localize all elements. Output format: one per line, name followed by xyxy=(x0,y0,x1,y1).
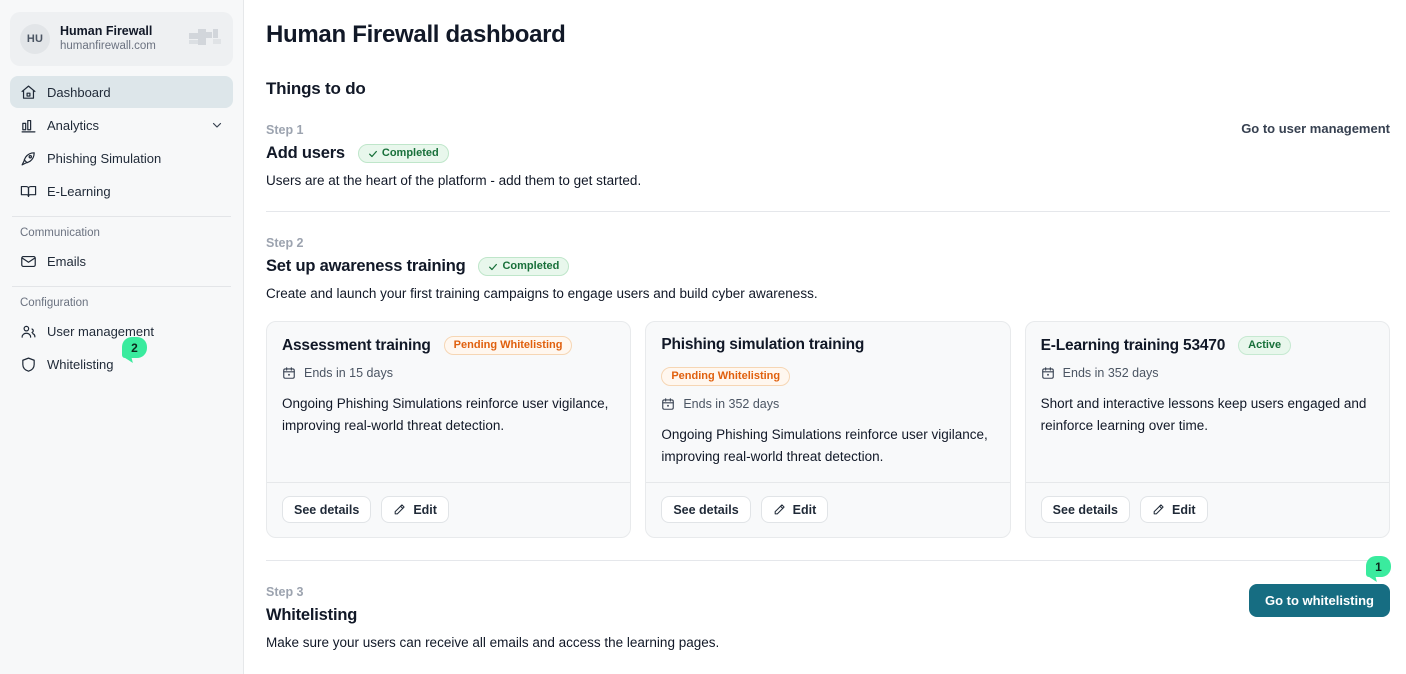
sidebar-item-emails[interactable]: Emails xyxy=(10,245,233,277)
org-profile-text: Human Firewall humanfirewall.com xyxy=(60,24,189,54)
card-title: Phishing simulation training xyxy=(661,336,864,354)
training-card-phishing-simulation: Phishing simulation training Pending Whi… xyxy=(645,321,1010,538)
step-name: Add users xyxy=(266,144,345,163)
org-name: Human Firewall xyxy=(60,24,189,39)
card-footer: See details Edit xyxy=(1026,482,1389,537)
sidebar-item-label: E-Learning xyxy=(47,184,223,199)
edit-button-label: Edit xyxy=(413,503,437,517)
status-badge-pending-whitelisting: Pending Whitelisting xyxy=(661,367,790,386)
sidebar-item-dashboard[interactable]: Dashboard xyxy=(10,76,233,108)
section-title-things-to-do: Things to do xyxy=(266,79,1390,99)
whitelisting-cta-badge: 1 xyxy=(1366,556,1391,577)
step-3-whitelisting: Step 3 Whitelisting Make sure your users… xyxy=(266,561,1390,652)
sidebar-item-label: Emails xyxy=(47,254,223,269)
card-meta-label: Ends in 352 days xyxy=(683,397,779,411)
card-header: Phishing simulation training xyxy=(661,336,994,354)
avatar: HU xyxy=(20,24,50,54)
step-label: Step 2 xyxy=(266,236,1390,250)
org-logo-placeholder-icon xyxy=(189,29,223,49)
sidebar-nav-primary: Dashboard Analytics Phishing Simulation xyxy=(10,76,233,207)
card-description: Ongoing Phishing Simulations reinforce u… xyxy=(282,393,615,437)
card-description: Ongoing Phishing Simulations reinforce u… xyxy=(661,424,994,468)
main-content: Human Firewall dashboard Things to do St… xyxy=(244,0,1406,674)
step-2-awareness-training: Step 2 Set up awareness training Complet… xyxy=(266,236,1390,561)
org-profile-card[interactable]: HU Human Firewall humanfirewall.com xyxy=(10,12,233,66)
card-meta-end-date: Ends in 352 days xyxy=(1041,366,1374,380)
calendar-icon xyxy=(1041,366,1055,380)
page-title: Human Firewall dashboard xyxy=(266,21,1390,49)
step-description: Users are at the heart of the platform -… xyxy=(266,171,641,190)
card-header: E-Learning training 53470 Active xyxy=(1041,336,1374,355)
step-1-add-users: Step 1 Add users Completed Users are at … xyxy=(266,99,1390,212)
pencil-icon xyxy=(393,503,406,516)
card-meta-label: Ends in 352 days xyxy=(1063,366,1159,380)
org-domain: humanfirewall.com xyxy=(60,39,189,54)
status-badge-completed: Completed xyxy=(478,257,569,276)
sidebar-item-label: Whitelisting xyxy=(47,357,223,372)
step-description: Make sure your users can receive all ema… xyxy=(266,633,719,652)
check-icon xyxy=(488,262,498,272)
check-icon xyxy=(368,149,378,159)
step-name: Set up awareness training xyxy=(266,257,465,276)
card-meta-end-date: Ends in 352 days xyxy=(661,397,994,411)
shield-icon xyxy=(20,356,37,373)
pencil-icon xyxy=(773,503,786,516)
sidebar-item-analytics[interactable]: Analytics xyxy=(10,109,233,141)
status-badge-active: Active xyxy=(1238,336,1291,355)
see-details-button[interactable]: See details xyxy=(1041,496,1130,523)
whitelisting-cta-wrapper: 1 Go to whitelisting xyxy=(1249,584,1390,617)
go-to-user-management-link[interactable]: Go to user management xyxy=(1241,121,1390,136)
sidebar-item-user-management[interactable]: User management xyxy=(10,315,233,347)
edit-button-label: Edit xyxy=(793,503,817,517)
status-badge-completed: Completed xyxy=(358,144,449,163)
sidebar-group-configuration-title: Configuration xyxy=(10,287,233,315)
step-name: Whitelisting xyxy=(266,606,357,625)
card-header: Assessment training Pending Whitelisting xyxy=(282,336,615,355)
edit-button[interactable]: Edit xyxy=(381,496,449,523)
card-meta-end-date: Ends in 15 days xyxy=(282,366,615,380)
edit-button[interactable]: Edit xyxy=(761,496,829,523)
card-body: Phishing simulation training Pending Whi… xyxy=(646,322,1009,482)
step-description: Create and launch your first training ca… xyxy=(266,284,1390,303)
go-to-whitelisting-button[interactable]: Go to whitelisting xyxy=(1249,584,1390,617)
sidebar-item-label: Phishing Simulation xyxy=(47,151,223,166)
users-icon xyxy=(20,323,37,340)
sidebar-nav-communication: Emails xyxy=(10,245,233,277)
sidebar: HU Human Firewall humanfirewall.com Dash… xyxy=(0,0,244,674)
status-badge-label: Completed xyxy=(382,148,439,159)
calendar-icon xyxy=(661,397,675,411)
see-details-button[interactable]: See details xyxy=(282,496,371,523)
book-open-icon xyxy=(20,183,37,200)
home-icon xyxy=(20,84,37,101)
whitelisting-notification-badge: 2 xyxy=(122,337,147,358)
training-card-assessment: Assessment training Pending Whitelisting… xyxy=(266,321,631,538)
sidebar-nav-configuration: User management Whitelisting 2 xyxy=(10,315,233,380)
sidebar-item-e-learning[interactable]: E-Learning xyxy=(10,175,233,207)
mail-icon xyxy=(20,253,37,270)
chevron-down-icon[interactable] xyxy=(211,119,223,131)
card-footer: See details Edit xyxy=(646,482,1009,537)
card-description: Short and interactive lessons keep users… xyxy=(1041,393,1374,437)
card-title: E-Learning training 53470 xyxy=(1041,337,1226,355)
card-body: Assessment training Pending Whitelisting… xyxy=(267,322,630,482)
step-label: Step 1 xyxy=(266,123,641,137)
status-badge-label: Completed xyxy=(502,261,559,272)
see-details-button[interactable]: See details xyxy=(661,496,750,523)
rocket-icon xyxy=(20,150,37,167)
edit-button[interactable]: Edit xyxy=(1140,496,1208,523)
sidebar-item-label: Dashboard xyxy=(47,85,223,100)
step-label: Step 3 xyxy=(266,585,719,599)
section-divider xyxy=(266,211,1390,212)
training-card-e-learning: E-Learning training 53470 Active Ends in… xyxy=(1025,321,1390,538)
card-footer: See details Edit xyxy=(267,482,630,537)
bar-chart-icon xyxy=(20,117,37,134)
sidebar-item-label: Analytics xyxy=(47,118,201,133)
training-cards: Assessment training Pending Whitelisting… xyxy=(266,321,1390,538)
sidebar-group-communication-title: Communication xyxy=(10,217,233,245)
edit-button-label: Edit xyxy=(1172,503,1196,517)
sidebar-item-phishing-simulation[interactable]: Phishing Simulation xyxy=(10,142,233,174)
pencil-icon xyxy=(1152,503,1165,516)
calendar-icon xyxy=(282,366,296,380)
sidebar-item-whitelisting[interactable]: Whitelisting 2 xyxy=(10,348,233,380)
status-badge-pending-whitelisting: Pending Whitelisting xyxy=(444,336,573,355)
app-root: HU Human Firewall humanfirewall.com Dash… xyxy=(0,0,1406,674)
card-meta-label: Ends in 15 days xyxy=(304,366,393,380)
card-title: Assessment training xyxy=(282,337,431,355)
card-body: E-Learning training 53470 Active Ends in… xyxy=(1026,322,1389,482)
card-badge-row: Pending Whitelisting xyxy=(661,366,994,386)
